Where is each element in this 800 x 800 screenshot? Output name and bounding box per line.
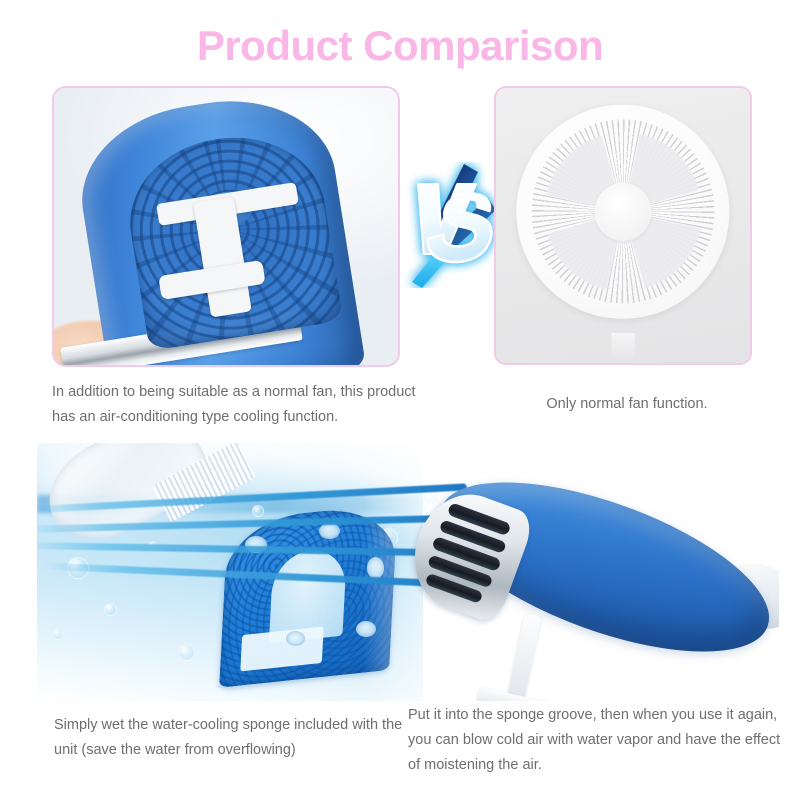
sponge-hole <box>286 631 305 646</box>
caption-right-product: Only normal fan function. <box>494 392 760 417</box>
vs-badge <box>404 162 504 288</box>
bubble <box>52 629 63 640</box>
fan-stand <box>470 614 586 701</box>
fan-hub <box>594 183 652 241</box>
white-round-desk-fan-image <box>496 88 750 363</box>
sponge-hole <box>319 523 340 539</box>
caption-left-product: In addition to being suitable as a norma… <box>52 380 422 430</box>
bubble <box>252 505 264 517</box>
comparison-panel-right <box>494 86 752 365</box>
fan-outer-ring <box>516 105 729 320</box>
blue-handheld-fan <box>408 474 779 680</box>
fan-neck <box>612 333 635 358</box>
bubble <box>104 603 117 616</box>
comparison-panel-left <box>52 86 400 367</box>
blue-portable-fan-grille-closeup-image <box>54 88 398 365</box>
product-comparison-infographic: Product Comparison <box>0 0 800 800</box>
caption-sponge-usage: Simply wet the water-cooling sponge incl… <box>54 713 406 763</box>
usage-composite-image <box>37 443 779 701</box>
caption-fan-usage: Put it into the sponge groove, then when… <box>408 703 788 778</box>
page-title: Product Comparison <box>0 22 800 70</box>
